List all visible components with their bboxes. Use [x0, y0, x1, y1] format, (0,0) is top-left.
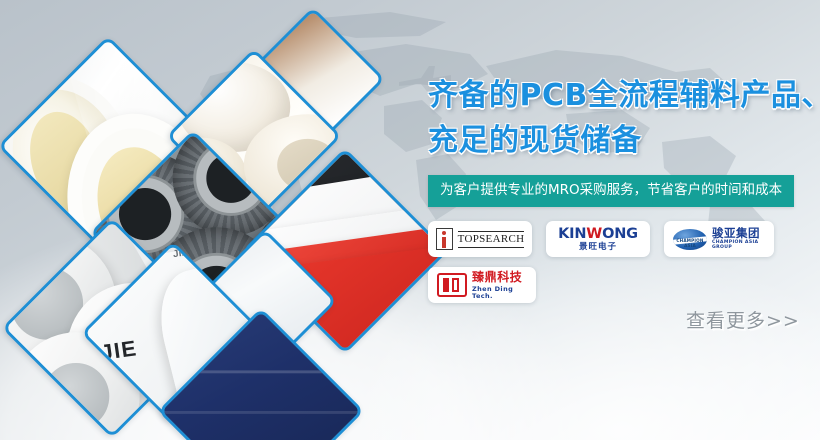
banner-content: 齐备的PCB全流程辅料产品、 充足的现货储备 为客户提供专业的MRO采购服务，节…: [428, 78, 810, 313]
kinwong-word-part1: KIN: [558, 226, 586, 242]
partner-logo-topsearch[interactable]: TOPSEARCH: [428, 221, 532, 257]
headline-line-1: 齐备的PCB全流程辅料产品、: [428, 78, 810, 115]
page-title: 齐备的PCB全流程辅料产品、 充足的现货储备: [428, 78, 810, 159]
champion-asia-title-cn: 骏亚集团: [712, 228, 765, 240]
kinwong-wordmark: KINWONG: [558, 227, 638, 242]
promo-banner: JIE JIE 齐备的PCB全流程辅料产品、 充足的现货储备 为客户提供专业的M…: [0, 0, 820, 440]
topsearch-mark-icon: [436, 228, 453, 250]
champion-asia-title-en: CHAMPION ASIA GROUP: [712, 241, 765, 250]
product-collage: JIE JIE: [0, 0, 430, 440]
kinwong-word-part3: ONG: [602, 226, 638, 242]
zhen-ding-monogram-icon: [437, 273, 467, 297]
kinwong-subtitle: 景旺电子: [579, 243, 617, 252]
partner-logo-row-2: 臻鼎科技 Zhen Ding Tech.: [428, 267, 800, 303]
topsearch-wordmark: TOPSEARCH: [458, 231, 525, 248]
view-more-link[interactable]: 查看更多>>: [686, 312, 800, 331]
globe-banner-text: CHAMPION ASIA: [673, 238, 707, 248]
zhen-ding-title-en: Zhen Ding Tech.: [472, 286, 527, 299]
partner-logo-list: TOPSEARCH KINWONG 景旺电子 CHAMPION ASIA 骏亚集…: [428, 221, 800, 303]
partner-logo-row-1: TOPSEARCH KINWONG 景旺电子 CHAMPION ASIA 骏亚集…: [428, 221, 800, 257]
subtitle-bar: 为客户提供专业的MRO采购服务，节省客户的时间和成本: [428, 175, 794, 207]
partner-logo-zhen-ding[interactable]: 臻鼎科技 Zhen Ding Tech.: [428, 267, 536, 303]
partner-logo-kinwong[interactable]: KINWONG 景旺电子: [546, 221, 650, 257]
headline-line-2: 充足的现货储备: [428, 123, 810, 160]
zhen-ding-title-cn: 臻鼎科技: [472, 271, 527, 283]
partner-logo-champion-asia[interactable]: CHAMPION ASIA 骏亚集团 CHAMPION ASIA GROUP: [664, 221, 774, 257]
kinwong-word-part2: W: [586, 226, 602, 242]
globe-icon: CHAMPION ASIA: [673, 229, 707, 250]
